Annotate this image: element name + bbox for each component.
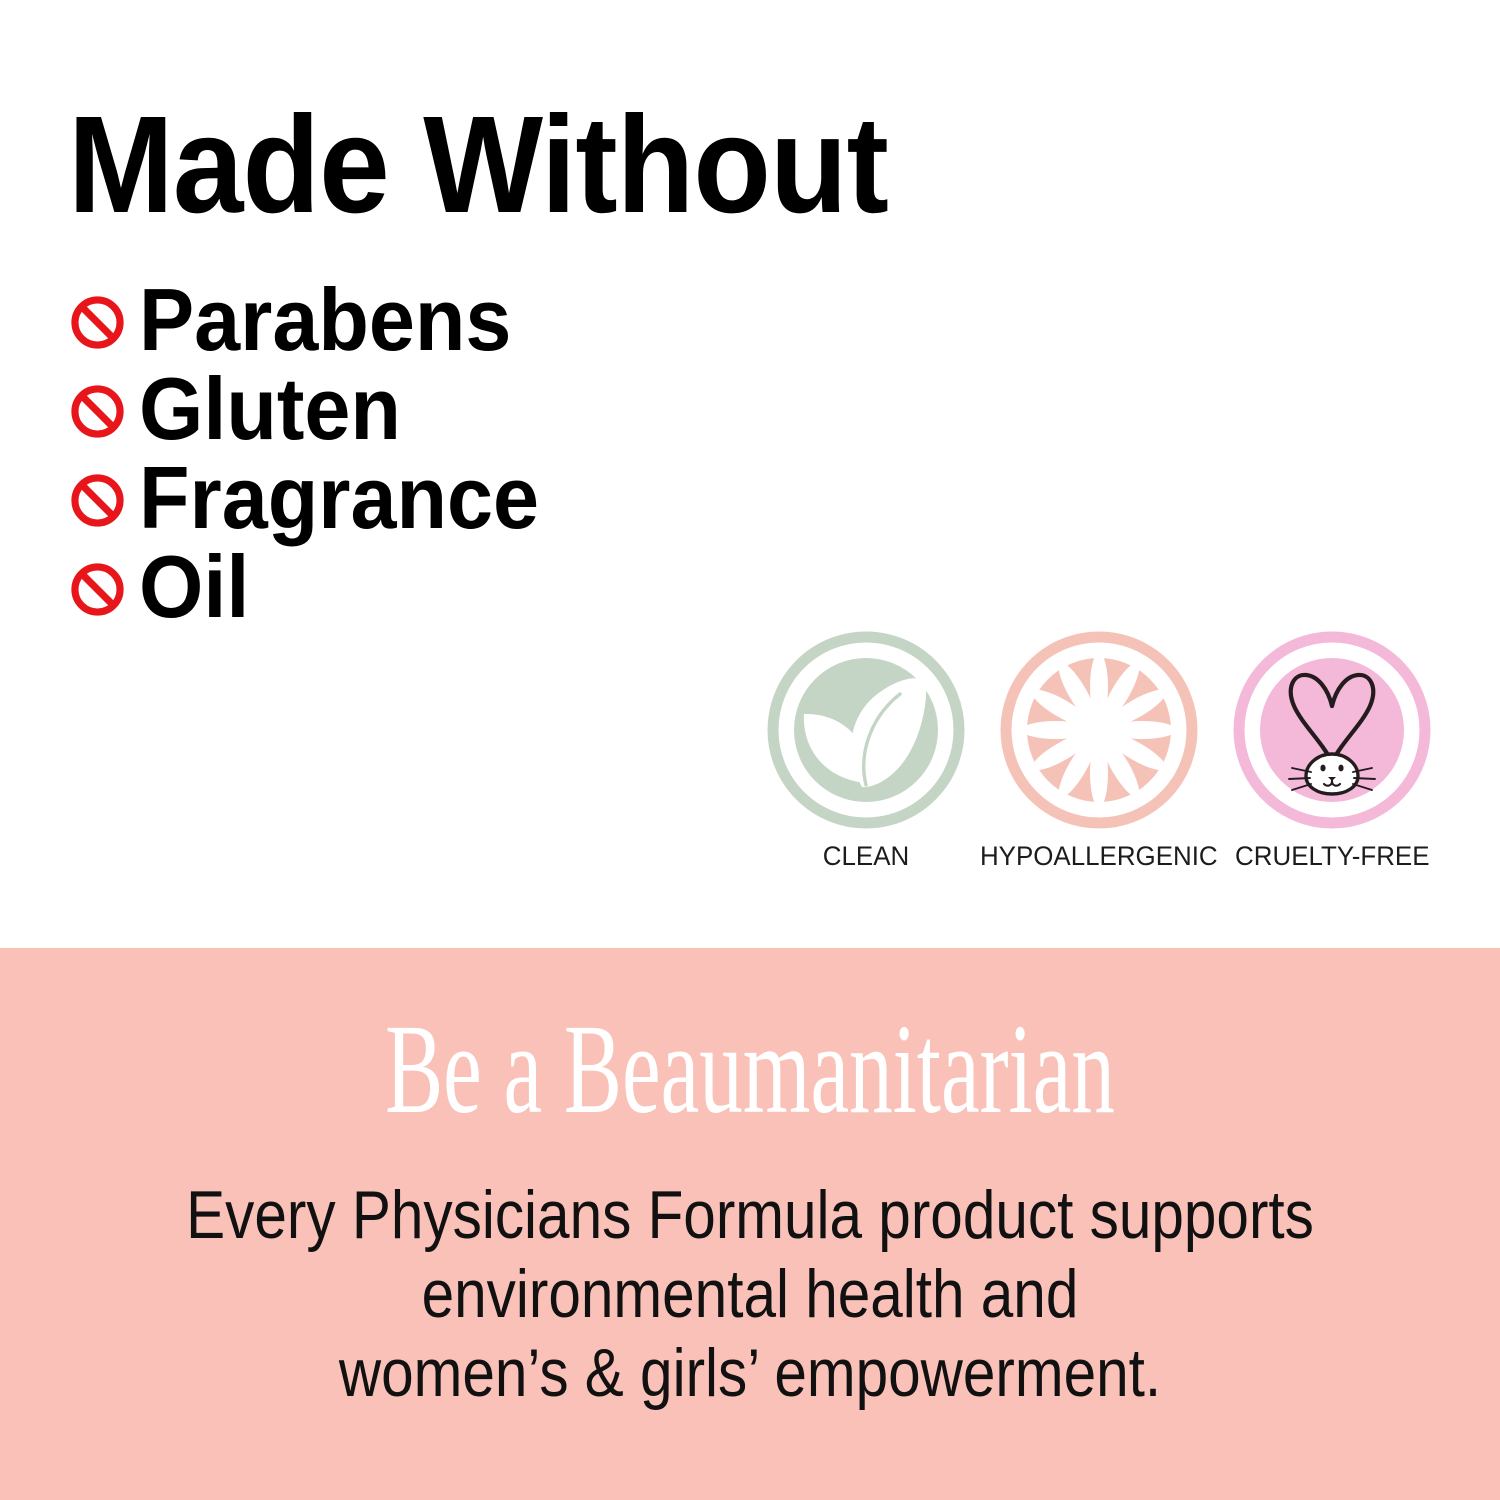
list-item-label: Oil xyxy=(139,543,249,637)
list-item: Parabens xyxy=(70,278,565,367)
banner-title: Be a Beaumanitarian xyxy=(240,1005,1260,1133)
no-entry-icon xyxy=(70,473,125,528)
list-item-label: Gluten xyxy=(139,365,401,459)
flower-icon xyxy=(999,630,1199,830)
list-item: Fragrance xyxy=(70,456,565,545)
banner-body-line: environmental health and xyxy=(105,1255,1395,1334)
leaves-icon xyxy=(766,630,966,830)
banner-body: Every Physicians Formula product support… xyxy=(105,1176,1395,1413)
badge-label: CRUELTY-FREE xyxy=(1235,843,1429,870)
list-item-label: Fragrance xyxy=(139,454,539,548)
banner-body-line: Every Physicians Formula product support… xyxy=(105,1176,1395,1255)
badge-cruelty-free: CRUELTY-FREE xyxy=(1231,630,1433,870)
beaumanitarian-banner: Be a Beaumanitarian Every Physicians For… xyxy=(0,948,1500,1500)
made-without-list: Parabens Gluten Fragrance xyxy=(70,278,565,634)
no-entry-icon xyxy=(70,295,125,350)
page-title: Made Without xyxy=(68,96,888,234)
no-entry-icon xyxy=(70,384,125,439)
product-info-graphic: Made Without Parabens Gluten xyxy=(0,0,1500,1500)
no-entry-icon xyxy=(70,562,125,617)
bunny-heart-ears-icon xyxy=(1232,630,1432,830)
badge-clean: CLEAN xyxy=(765,630,967,870)
badge-label: HYPOALLERGENIC xyxy=(980,843,1218,870)
certification-badges: CLEAN xyxy=(765,630,1433,870)
list-item-label: Parabens xyxy=(139,276,511,370)
badge-label: CLEAN xyxy=(823,843,909,870)
list-item: Gluten xyxy=(70,367,565,456)
made-without-section: Made Without Parabens Gluten xyxy=(0,0,1500,948)
banner-body-line: women’s & girls’ empowerment. xyxy=(105,1334,1395,1413)
badge-hypoallergenic: HYPOALLERGENIC xyxy=(998,630,1200,870)
list-item: Oil xyxy=(70,545,565,634)
